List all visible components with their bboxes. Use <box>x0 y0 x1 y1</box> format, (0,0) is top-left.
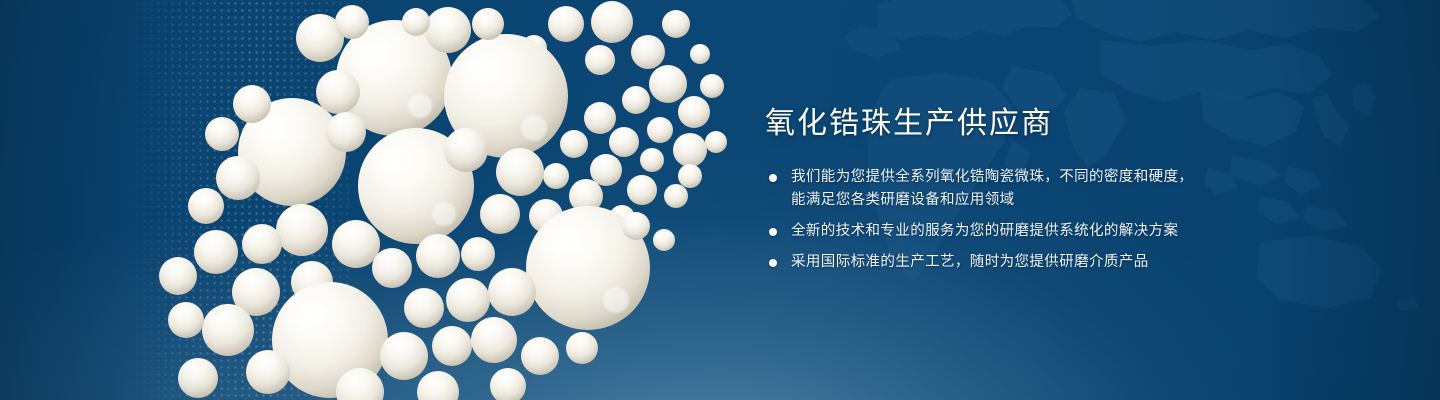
bullet-dot-icon <box>769 228 777 236</box>
banner-headline: 氧化锆珠生产供应商 <box>765 104 1385 144</box>
bullet-item: 全新的技术和专业的服务为您的研磨提供系统化的解决方案 <box>765 220 1385 243</box>
bullet-dot-icon <box>769 259 777 267</box>
bullet-text-line: 能满足您各类研磨设备和应用领域 <box>791 189 1385 212</box>
bullet-text-line: 全新的技术和专业的服务为您的研磨提供系统化的解决方案 <box>791 220 1385 243</box>
bullet-text-line: 采用国际标准的生产工艺，随时为您提供研磨介质产品 <box>791 251 1385 274</box>
bullet-item: 采用国际标准的生产工艺，随时为您提供研磨介质产品 <box>765 251 1385 274</box>
bullet-text-line: 我们能为您提供全系列氧化锆陶瓷微珠，不同的密度和硬度， <box>791 166 1385 189</box>
banner-bullet-list: 我们能为您提供全系列氧化锆陶瓷微珠，不同的密度和硬度， 能满足您各类研磨设备和应… <box>765 166 1385 274</box>
banner-copy: 氧化锆珠生产供应商 我们能为您提供全系列氧化锆陶瓷微珠，不同的密度和硬度， 能满… <box>765 104 1385 274</box>
bullet-dot-icon <box>769 174 777 182</box>
hero-banner: 氧化锆珠生产供应商 我们能为您提供全系列氧化锆陶瓷微珠，不同的密度和硬度， 能满… <box>0 0 1440 400</box>
bullet-item: 我们能为您提供全系列氧化锆陶瓷微珠，不同的密度和硬度， 能满足您各类研磨设备和应… <box>765 166 1385 212</box>
